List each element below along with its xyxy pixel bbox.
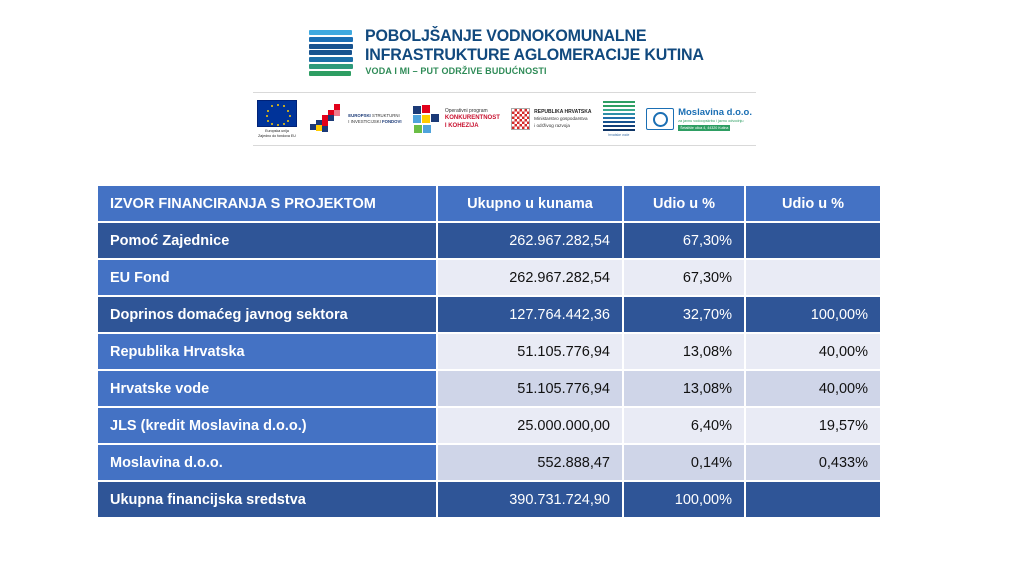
cell-amount: 127.764.442,36 [438, 297, 624, 334]
moslavina-icon [646, 108, 674, 130]
funder-logo-strip: Europska unija Zajedno do fondova EU EU [253, 92, 756, 146]
cell-amount: 51.105.776,94 [438, 371, 624, 408]
op-konkurentnost-icon [413, 105, 441, 133]
project-title-line2: INFRASTRUKTURE AGLOMERACIJE KUTINA [365, 47, 704, 64]
water-bars-logo-icon [309, 30, 353, 76]
moslavina-logo: Moslavina d.o.o. za javnu vodoopskrbu i … [646, 107, 752, 131]
table-row: Republika Hrvatska51.105.776,9413,08%40,… [98, 334, 880, 371]
table-row: EU Fond262.967.282,5467,30% [98, 260, 880, 297]
strip-divider-bottom [253, 145, 756, 146]
cell-share-2: 19,57% [746, 408, 880, 445]
op-line1: Operativni program [445, 108, 500, 115]
moslavina-tagline: za javnu vodoopskrbu i javnu odvodnju [678, 119, 752, 124]
republika-hrvatska-logo: REPUBLIKA HRVATSKA Ministarstvo gospodar… [511, 108, 591, 130]
cell-share-1: 0,14% [624, 445, 746, 482]
column-header-share-1: Udio u % [624, 186, 746, 223]
cell-amount: 51.105.776,94 [438, 334, 624, 371]
cell-source-label: Doprinos domaćeg javnog sektora [98, 297, 438, 334]
table-row: Hrvatske vode51.105.776,9413,08%40,00% [98, 371, 880, 408]
cell-source-label: Moslavina d.o.o. [98, 445, 438, 482]
op-line3: I KOHEZIJA [445, 122, 500, 130]
table-header-row: IZVOR FINANCIRANJA S PROJEKTOM Ukupno u … [98, 186, 880, 223]
moslavina-name: Moslavina d.o.o. [678, 107, 752, 119]
cell-share-1: 13,08% [624, 371, 746, 408]
cell-share-2: 40,00% [746, 334, 880, 371]
cell-share-2: 40,00% [746, 371, 880, 408]
column-header-amount: Ukupno u kunama [438, 186, 624, 223]
eu-logo-caption: Europska unija Zajedno do fondova EU [258, 129, 296, 139]
hrvatske-vode-icon [603, 101, 635, 131]
eu-flag-icon [257, 100, 297, 127]
cell-share-2 [746, 260, 880, 297]
cell-source-label: EU Fond [98, 260, 438, 297]
cell-share-2 [746, 482, 880, 519]
table-body: Pomoć Zajednice262.967.282,5467,30%EU Fo… [98, 223, 880, 519]
column-header-share-2: Udio u % [746, 186, 880, 223]
cell-amount: 262.967.282,54 [438, 260, 624, 297]
project-subtitle: VODA I MI – PUT ODRŽIVE BUDUĆNOSTI [365, 67, 714, 76]
cell-share-1: 100,00% [624, 482, 746, 519]
cell-source-label: Hrvatske vode [98, 371, 438, 408]
cell-source-label: Ukupna financijska sredstva [98, 482, 438, 519]
cell-share-1: 67,30% [624, 260, 746, 297]
column-header-source: IZVOR FINANCIRANJA S PROJEKTOM [98, 186, 438, 223]
cell-amount: 25.000.000,00 [438, 408, 624, 445]
moslavina-address: Šetalište ulica 4, 44320 Kutina [678, 125, 730, 131]
project-title-line1: POBOLJŠANJE VODNOKOMUNALNE [365, 28, 704, 45]
cell-source-label: Pomoć Zajednice [98, 223, 438, 260]
cell-share-2: 0,433% [746, 445, 880, 482]
table-row: Moslavina d.o.o.552.888,470,14%0,433% [98, 445, 880, 482]
cell-amount: 552.888,47 [438, 445, 624, 482]
op-konkurentnost-logo: Operativni program KONKURENTNOST I KOHEZ… [413, 105, 500, 133]
cell-share-2: 100,00% [746, 297, 880, 334]
esi-funds-logo: EUROPSKI STRUKTURNI I INVESTICIJSKI FOND… [308, 104, 401, 134]
cell-amount: 390.731.724,90 [438, 482, 624, 519]
table-row: JLS (kredit Moslavina d.o.o.)25.000.000,… [98, 408, 880, 445]
rh-line1: REPUBLIKA HRVATSKA [534, 109, 591, 116]
cell-share-1: 6,40% [624, 408, 746, 445]
hrvatske-vode-logo: hrvatske vode [603, 101, 635, 137]
op-line2: KONKURENTNOST [445, 114, 500, 122]
esi-line2: I INVESTICIJSKI FONDOVI [348, 119, 401, 125]
cell-share-1: 67,30% [624, 223, 746, 260]
cell-source-label: Republika Hrvatska [98, 334, 438, 371]
project-header: POBOLJŠANJE VODNOKOMUNALNE INFRASTRUKTUR… [0, 28, 1024, 76]
eu-logo: Europska unija Zajedno do fondova EU [257, 100, 297, 139]
rh-line3: i održivog razvoja [534, 123, 591, 130]
cell-amount: 262.967.282,54 [438, 223, 624, 260]
rh-line2: Ministarstvo gospodarstva [534, 116, 591, 123]
cell-source-label: JLS (kredit Moslavina d.o.o.) [98, 408, 438, 445]
croatian-coat-of-arms-icon [511, 108, 530, 130]
esi-funds-icon [308, 104, 344, 134]
table-row: Pomoć Zajednice262.967.282,5467,30% [98, 223, 880, 260]
eu-caption-line2: Zajedno do fondova EU [258, 134, 296, 139]
table-row: Doprinos domaćeg javnog sektora127.764.4… [98, 297, 880, 334]
hrvatske-vode-caption: hrvatske vode [608, 133, 629, 137]
cell-share-1: 13,08% [624, 334, 746, 371]
cell-share-1: 32,70% [624, 297, 746, 334]
cell-share-2 [746, 223, 880, 260]
table-row: Ukupna financijska sredstva390.731.724,9… [98, 482, 880, 519]
financing-sources-table: IZVOR FINANCIRANJA S PROJEKTOM Ukupno u … [98, 186, 880, 519]
